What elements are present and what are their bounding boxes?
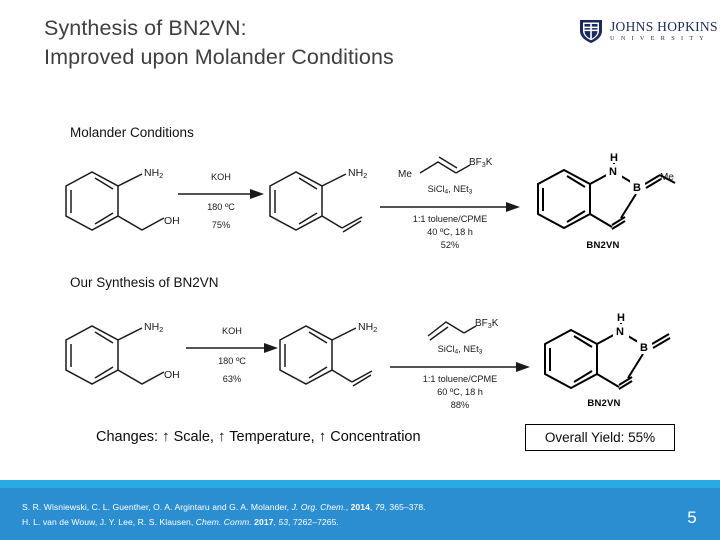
svg-text:NH2: NH2	[348, 167, 367, 180]
changes-item-temperature: Temperature,	[229, 429, 314, 445]
arrow1-yield-2: 63%	[186, 374, 278, 384]
slide-number: 5	[678, 508, 706, 528]
arrow2-yield-2: 88%	[390, 400, 530, 410]
label-Me: Me	[660, 172, 674, 183]
reaction-scheme-ours: NH2 OH KOH 180 ºC 63%	[0, 302, 720, 414]
svg-text:BF3K: BF3K	[469, 157, 493, 169]
arrow2-reagents-sicl4-net3-2: SiCl4, NEt3	[390, 344, 530, 355]
arrow2-solvent-2: 1:1 toluene/CPME	[390, 374, 530, 384]
svg-text:NH2: NH2	[358, 321, 377, 334]
footer-band	[0, 488, 720, 540]
up-arrow-icon-concentration: ↑	[319, 428, 327, 445]
label-B-2: B	[640, 342, 648, 354]
citation-2: H. L. van de Wouw, J. Y. Lee, R. S. Klau…	[22, 517, 339, 527]
changes-item-concentration: Concentration	[330, 429, 420, 445]
label-N: N	[609, 166, 617, 178]
arrow2-temp-time-2: 60 ºC, 18 h	[390, 387, 530, 397]
title-line-2: Improved upon Molander Conditions	[44, 43, 544, 72]
up-arrow-icon-temperature: ↑	[218, 428, 226, 445]
reaction-arrow-1-scheme2: KOH 180 ºC 63%	[186, 326, 278, 390]
label-H: H	[610, 152, 618, 164]
arrow1-temperature: 180 ºC	[178, 202, 264, 212]
citation-1: S. R. Wisniewski, C. L. Guenther, O. A. …	[22, 502, 426, 512]
label-B: B	[633, 182, 641, 194]
up-arrow-icon-scale: ↑	[162, 428, 170, 445]
changes-summary: Changes: ↑ Scale, ↑ Temperature, ↑ Conce…	[96, 428, 421, 445]
molecule-bn2vn-propenyl: N H B Me BN2VN	[528, 154, 678, 240]
reaction-arrow-2-scheme2: BF3K SiCl4, NEt3 1:1 toluene/CPME 60 ºC,…	[390, 314, 530, 414]
product-name-label-2: BN2VN	[549, 398, 659, 409]
section-heading-our-synthesis: Our Synthesis of BN2VN	[70, 275, 219, 290]
molecule-aminophenethyl-alcohol-2: NH2 OH	[52, 322, 172, 394]
molecule-aminophenethyl-alcohol-1: NH2 OH	[52, 168, 172, 240]
label-N-2: N	[616, 326, 624, 338]
changes-item-scale: Scale,	[174, 429, 214, 445]
arrow1-temperature-2: 180 ºC	[186, 356, 278, 366]
arrow1-reagent-koh: KOH	[178, 172, 264, 182]
arrow1-reagent-koh-2: KOH	[186, 326, 278, 336]
molecule-vinylaniline-2: NH2	[272, 322, 376, 394]
arrow2-yield: 52%	[380, 240, 520, 250]
molecule-bn2vn-vinyl: N H B BN2VN	[535, 314, 675, 400]
shield-icon	[578, 18, 604, 44]
arrow2-temp-time: 40 ºC, 18 h	[380, 227, 520, 237]
footer-accent-band	[0, 480, 720, 488]
page-title: Synthesis of BN2VN: Improved upon Moland…	[44, 14, 544, 72]
overall-yield-label: Overall Yield: 55%	[545, 430, 655, 445]
reagent-vinyl-trifluoroborate: BF3K	[418, 314, 518, 340]
svg-text:NH2: NH2	[144, 167, 163, 180]
reaction-arrow-2-scheme1: Me BF3K SiCl4, NEt3 1:1 toluene/CPME 40 …	[380, 154, 520, 254]
section-heading-molander: Molander Conditions	[70, 125, 194, 140]
jhu-logo: JOHNS HOPKINS U N I V E R S I T Y	[578, 18, 718, 44]
product-name-label-1: BN2VN	[548, 240, 658, 251]
svg-text:NH2: NH2	[144, 321, 163, 334]
label-H-2: H	[617, 312, 625, 324]
arrow1-yield: 75%	[178, 220, 264, 230]
arrow2-solvent: 1:1 toluene/CPME	[380, 214, 520, 224]
svg-text:OH: OH	[164, 369, 180, 381]
reaction-arrow-1-scheme1: KOH 180 ºC 75%	[178, 172, 264, 236]
overall-yield-box: Overall Yield: 55%	[525, 424, 675, 451]
arrow2-reagents-sicl4-net3: SiCl4, NEt3	[380, 184, 520, 195]
svg-text:Me: Me	[398, 169, 412, 180]
slide: Synthesis of BN2VN: Improved upon Moland…	[0, 0, 720, 540]
svg-text:BF3K: BF3K	[475, 318, 499, 330]
molecule-vinylaniline-1: NH2	[262, 168, 366, 240]
title-line-1: Synthesis of BN2VN:	[44, 14, 544, 43]
reaction-scheme-molander: NH2 OH KOH 180 ºC 75%	[0, 150, 720, 260]
logo-wordmark: JOHNS HOPKINS U N I V E R S I T Y	[610, 20, 718, 43]
logo-subtitle: U N I V E R S I T Y	[610, 34, 718, 43]
changes-prefix: Changes:	[96, 429, 158, 445]
logo-name: JOHNS HOPKINS	[610, 20, 718, 34]
reagent-propenyl-trifluoroborate: Me BF3K	[398, 154, 508, 180]
